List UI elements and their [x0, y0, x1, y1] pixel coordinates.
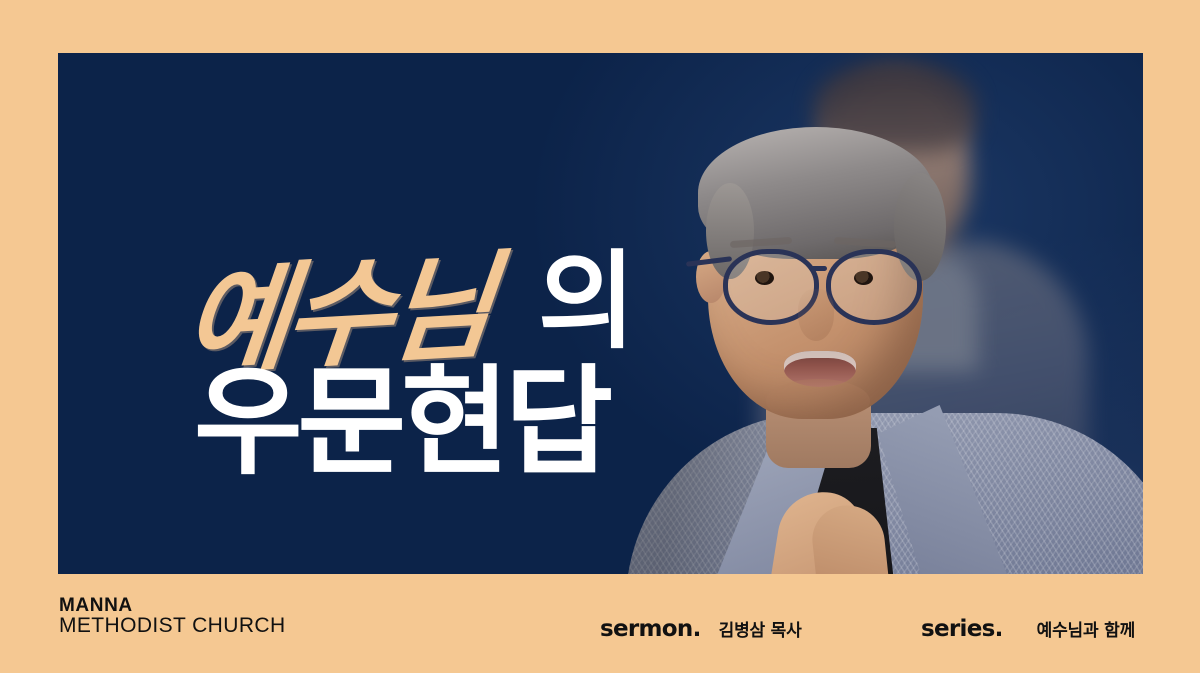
- credit-sermon-label: sermon.: [600, 616, 701, 642]
- artwork-panel: 예수님 의 우문현답: [58, 53, 1143, 574]
- title-suffix-text: 의: [538, 249, 632, 355]
- speaker-chin: [766, 379, 870, 423]
- logo-line-manna: MANNA: [59, 596, 286, 615]
- footer-bar: MANNA METHODIST CHURCH sermon. 김병삼 목사 se…: [0, 574, 1200, 673]
- speaker-eye-right: [854, 271, 873, 285]
- sermon-title-card: 예수님 의 우문현답 MANNA METHODIST CHURCH sermon…: [0, 0, 1200, 673]
- credit-sermon: sermon. 김병삼 목사: [600, 616, 802, 642]
- credit-series-value: 예수님과 함께: [1037, 616, 1135, 641]
- speaker-eye-left: [755, 271, 774, 285]
- title-line-2: 우문현답: [194, 363, 608, 481]
- speaker-nose: [798, 289, 834, 341]
- credit-series: series. 예수님과 함께: [921, 616, 1135, 642]
- glasses-bridge: [809, 266, 827, 271]
- credit-sermon-value: 김병삼 목사: [719, 616, 802, 641]
- church-logo: MANNA METHODIST CHURCH: [59, 596, 286, 637]
- title-line-1: 예수님 의: [186, 213, 706, 353]
- credit-series-label: series.: [921, 616, 1003, 642]
- glasses-lens-right: [826, 249, 922, 325]
- logo-line-methodist: METHODIST CHURCH: [59, 615, 286, 636]
- sermon-title: 예수님 의 우문현답: [186, 213, 706, 353]
